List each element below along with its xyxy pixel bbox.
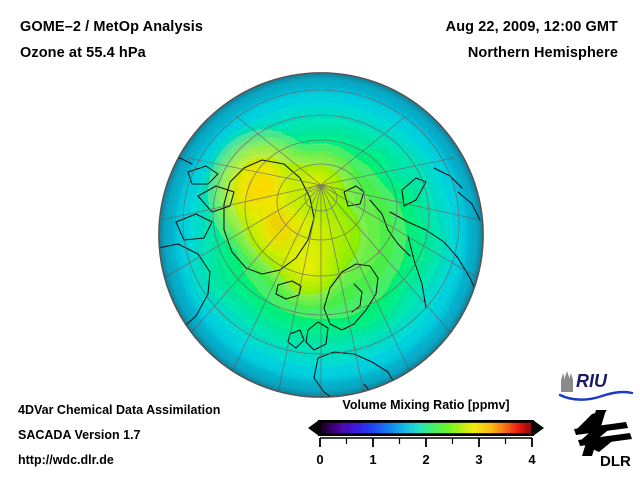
colorbar-tick-label-1: 1 [369,452,376,467]
footer-line-url[interactable]: http://wdc.dlr.de [18,453,114,467]
riu-wordmark: RIU [576,371,608,391]
dlr-mark-icon [574,410,632,456]
colorbar-title: Volume Mixing Ratio [ppmv] [306,398,546,412]
page-title-line2: Ozone at 55.4 hPa [20,45,146,61]
colorbar-scale: 0 1 2 3 4 [306,417,546,473]
colorbar-gradient [318,420,534,436]
footer-line-version: SACADA Version 1.7 [18,428,141,442]
riu-wave-icon [560,392,632,400]
colorbar-tick-label-3: 3 [475,452,482,467]
riu-tower-icon [561,371,573,392]
footer-line-method: 4DVar Chemical Data Assimilation [18,403,220,417]
colorbar-tick-label-4: 4 [528,452,536,467]
colorbar: Volume Mixing Ratio [ppmv] [306,398,546,474]
colorbar-tick-label-0: 0 [316,452,323,467]
colorbar-major-ticks [320,438,532,447]
globe-map [158,72,484,398]
dlr-logo: DLR [566,408,636,470]
colorbar-high-arrow [533,420,544,436]
timestamp-label: Aug 22, 2009, 12:00 GMT [446,19,618,35]
dlr-wordmark: DLR [600,453,631,470]
colorbar-tick-label-2: 2 [422,452,429,467]
colorbar-low-arrow [308,420,319,436]
region-label: Northern Hemisphere [468,45,618,61]
orthographic-projection [158,72,484,398]
riu-logo: RIU [558,368,634,402]
visualization-page: GOME–2 / MetOp Analysis Ozone at 55.4 hP… [0,0,640,480]
page-title-line1: GOME–2 / MetOp Analysis [20,19,203,35]
globe-limb-shading [159,73,483,397]
